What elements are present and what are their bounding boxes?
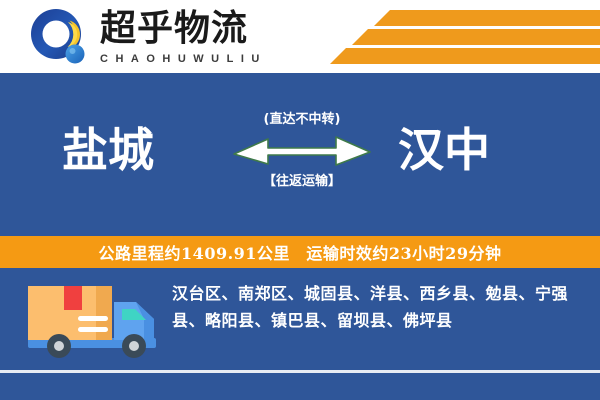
brand-name-en: CHAOHUWULIU [100, 52, 267, 66]
speed-stripe-1 [390, 10, 600, 26]
destination-city: 汉中 [398, 123, 490, 177]
district-list: 汉台区、南郑区、城固县、洋县、西乡县、勉县、宁强县、略阳县、镇巴县、留坝县、佛坪… [172, 280, 584, 334]
delivery-truck-icon [22, 278, 172, 364]
distance-duration-text: 公路里程约1409.91公里 运输时效约23小时29分钟 [99, 240, 502, 264]
double-headed-arrow-icon [232, 133, 372, 167]
coverage-area: 汉台区、南郑区、城固县、洋县、西乡县、勉县、宁强县、略阳县、镇巴县、留坝县、佛坪… [0, 268, 600, 370]
route-arrow-group: (直达不中转) 【往返运输】 [232, 111, 372, 191]
logistics-route-banner: 超乎物流 CHAOHUWULIU 盐城 (直达不中转) 【往返运输】 汉中 公路… [0, 0, 600, 400]
speed-stripes-decoration [335, 0, 600, 73]
circular-q-logo-icon [28, 7, 90, 69]
footer-strip [0, 373, 600, 400]
route-panel: 盐城 (直达不中转) 【往返运输】 汉中 [0, 73, 600, 234]
distance-duration-bar: 公路里程约1409.91公里 运输时效约23小时29分钟 [0, 236, 600, 268]
brand-wordmark: 超乎物流 CHAOHUWULIU [100, 7, 267, 66]
brand-logo-block[interactable]: 超乎物流 CHAOHUWULIU [28, 7, 267, 69]
speed-stripe-2 [368, 29, 600, 45]
round-trip-note: 【往返运输】 [232, 173, 372, 191]
speed-stripe-3 [346, 48, 600, 64]
banner-header: 超乎物流 CHAOHUWULIU [0, 0, 600, 73]
brand-name-cn: 超乎物流 [100, 9, 267, 49]
origin-city: 盐城 [62, 123, 154, 177]
direct-service-note: (直达不中转) [232, 111, 372, 129]
